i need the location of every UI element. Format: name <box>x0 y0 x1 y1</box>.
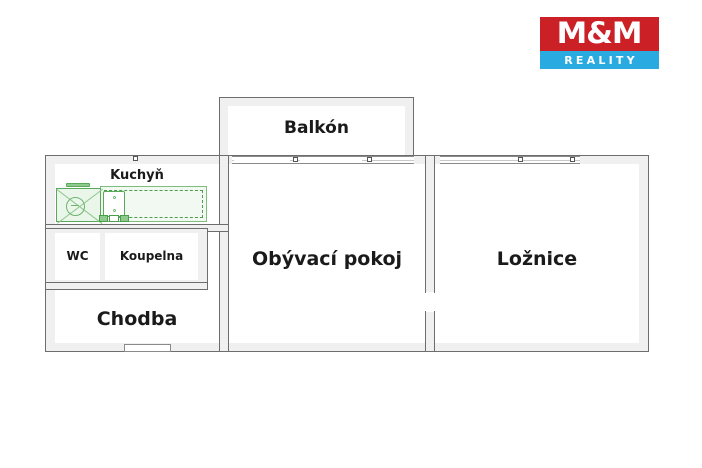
stove-burner-icon <box>66 197 85 216</box>
brand-logo-mm-reality[interactable]: M&M REALITY <box>540 17 659 69</box>
stove-icon <box>56 188 101 222</box>
logo-reality-text: REALITY <box>561 55 637 66</box>
base-cabinet-icon-3 <box>120 215 129 222</box>
room-label-kuchyn: Kuchyň <box>55 169 219 182</box>
kitchen-fixtures-group <box>56 185 208 223</box>
window-marker-bedroom-left <box>518 157 523 162</box>
balcony-threshold-left <box>234 157 290 163</box>
room-label-balkon: Balkón <box>228 120 405 137</box>
doorway-living-bedroom <box>426 292 434 312</box>
room-label-koupelna: Koupelna <box>105 250 198 262</box>
room-label-loznice: Ložnice <box>435 250 639 269</box>
logo-mm-text: M&M <box>557 19 642 49</box>
extractor-hood-icon <box>66 183 90 187</box>
base-cabinet-icon-2 <box>109 215 119 222</box>
window-bedroom <box>440 156 580 164</box>
sink-icon <box>103 191 125 217</box>
window-marker-living-right <box>367 157 372 162</box>
sink-drain-icon <box>113 209 116 212</box>
partition-living-bedroom-lower <box>425 311 435 352</box>
window-marker-kitchen <box>133 156 138 161</box>
partition-hall-living <box>219 155 229 352</box>
sink-tap-icon <box>113 196 116 199</box>
room-label-wc: WC <box>55 250 100 262</box>
entry-doorway-chodba <box>124 344 171 352</box>
room-label-chodba: Chodba <box>55 310 219 329</box>
partition-living-bedroom <box>425 155 435 293</box>
logo-red-block: M&M <box>540 17 659 51</box>
partition-bath-hall <box>45 282 208 290</box>
base-cabinet-icon-1 <box>99 215 108 222</box>
logo-blue-block: REALITY <box>540 51 659 69</box>
floorplan-canvas: Balkón WC Koupelna Kuchyň <box>0 0 702 468</box>
window-marker-bedroom-right <box>570 157 575 162</box>
stove-knob-icon <box>71 205 79 206</box>
window-marker-living-left <box>293 157 298 162</box>
balcony-threshold-right <box>300 157 362 163</box>
room-label-obyvaci-pokoj: Obývací pokoj <box>229 250 425 269</box>
